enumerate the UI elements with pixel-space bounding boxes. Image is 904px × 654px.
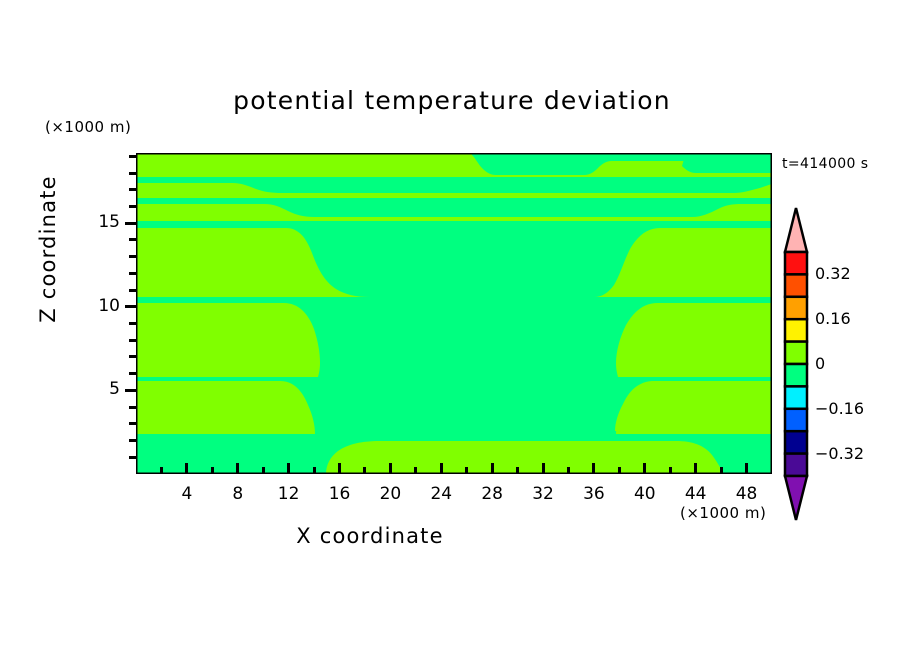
y-tick-minor xyxy=(129,272,136,275)
colorbar-segment xyxy=(785,319,807,341)
x-tick-label: 32 xyxy=(518,484,568,504)
y-tick-minor xyxy=(129,372,136,375)
y-tick-major xyxy=(125,222,136,225)
x-tick-major xyxy=(236,463,239,474)
y-tick-minor xyxy=(129,289,136,292)
y-tick-minor xyxy=(129,238,136,241)
y-tick-minor xyxy=(129,205,136,208)
x-tick-minor xyxy=(720,467,723,474)
colorbar[interactable] xyxy=(779,206,813,522)
colorbar-segment xyxy=(785,252,807,274)
x-tick-minor xyxy=(516,467,519,474)
y-tick-label: 5 xyxy=(84,379,120,399)
contour-plot-area xyxy=(136,153,772,474)
x-tick-label: 24 xyxy=(416,484,466,504)
colorbar-over-arrow xyxy=(785,208,807,252)
x-tick-label: 28 xyxy=(467,484,517,504)
x-tick-label: 20 xyxy=(365,484,415,504)
x-tick-major xyxy=(694,463,697,474)
x-tick-label: 8 xyxy=(213,484,263,504)
contour-bands xyxy=(136,153,772,474)
x-tick-major xyxy=(440,463,443,474)
x-tick-label: 44 xyxy=(671,484,721,504)
x-tick-minor xyxy=(262,467,265,474)
timestamp-annotation: t=414000 s xyxy=(782,156,868,172)
y-axis-ticks xyxy=(124,153,136,474)
x-tick-minor xyxy=(567,467,570,474)
y-tick-label: 15 xyxy=(84,212,120,232)
x-tick-minor xyxy=(618,467,621,474)
colorbar-under-arrow xyxy=(785,476,807,520)
y-axis-units-label: (×1000 m) xyxy=(45,118,131,136)
x-tick-label: 4 xyxy=(162,484,212,504)
contour-field-svg xyxy=(136,153,772,474)
x-tick-minor xyxy=(465,467,468,474)
x-tick-minor xyxy=(363,467,366,474)
x-tick-label: 12 xyxy=(264,484,314,504)
x-tick-major xyxy=(745,463,748,474)
colorbar-segment xyxy=(785,386,807,408)
notch-1b xyxy=(682,159,772,173)
x-tick-major xyxy=(643,463,646,474)
y-tick-minor xyxy=(129,255,136,258)
x-tick-major xyxy=(389,463,392,474)
colorbar-tick-label: 0.16 xyxy=(815,309,851,328)
x-axis-units-label: (×1000 m) xyxy=(680,504,766,522)
x-tick-major xyxy=(185,463,188,474)
colorbar-segment xyxy=(785,342,807,364)
colorbar-svg xyxy=(779,206,813,522)
x-tick-minor xyxy=(669,467,672,474)
x-tick-label: 36 xyxy=(569,484,619,504)
y-tick-minor xyxy=(129,422,136,425)
y-tick-minor xyxy=(129,406,136,409)
band-5b xyxy=(616,303,772,377)
x-axis-title: X coordinate xyxy=(0,524,740,548)
x-tick-major xyxy=(338,463,341,474)
x-tick-minor xyxy=(211,467,214,474)
colorbar-tick-labels: 0.320.160−0.16−0.32 xyxy=(815,206,895,522)
y-tick-minor xyxy=(129,172,136,175)
y-tick-minor xyxy=(129,322,136,325)
y-axis-tick-labels: 51015 xyxy=(84,153,120,474)
x-tick-minor xyxy=(160,467,163,474)
y-tick-minor xyxy=(129,355,136,358)
colorbar-segment xyxy=(785,364,807,386)
y-tick-minor xyxy=(129,155,136,158)
x-tick-label: 40 xyxy=(620,484,670,504)
colorbar-segment xyxy=(785,454,807,476)
x-tick-major xyxy=(491,463,494,474)
colorbar-segment xyxy=(785,409,807,431)
x-tick-label: 48 xyxy=(722,484,772,504)
y-tick-minor xyxy=(129,439,136,442)
colorbar-segment xyxy=(785,274,807,296)
x-tick-minor xyxy=(414,467,417,474)
x-tick-label: 16 xyxy=(315,484,365,504)
band-lower-a xyxy=(136,381,315,434)
colorbar-tick-label: 0 xyxy=(815,354,825,373)
y-tick-minor xyxy=(129,339,136,342)
y-tick-minor xyxy=(129,456,136,459)
colorbar-tick-label: 0.32 xyxy=(815,264,851,283)
y-axis-title: Z coordinate xyxy=(36,174,60,324)
y-tick-minor xyxy=(129,188,136,191)
colorbar-tick-label: −0.16 xyxy=(815,399,864,418)
band-lower-a2 xyxy=(616,381,772,434)
x-tick-major xyxy=(287,463,290,474)
y-tick-label: 10 xyxy=(84,296,120,316)
y-tick-major xyxy=(125,389,136,392)
band-bottom-main xyxy=(326,441,724,474)
colorbar-segment xyxy=(785,431,807,453)
x-axis-tick-labels: 4812162024283236404448 xyxy=(136,480,772,506)
x-tick-major xyxy=(592,463,595,474)
page-title: potential temperature deviation xyxy=(0,86,904,115)
colorbar-segment xyxy=(785,297,807,319)
colorbar-tick-label: −0.32 xyxy=(815,444,864,463)
band-5 xyxy=(136,303,320,377)
contour-band-stack xyxy=(136,153,772,474)
x-tick-major xyxy=(542,463,545,474)
y-tick-major xyxy=(125,305,136,308)
x-tick-minor xyxy=(313,467,316,474)
